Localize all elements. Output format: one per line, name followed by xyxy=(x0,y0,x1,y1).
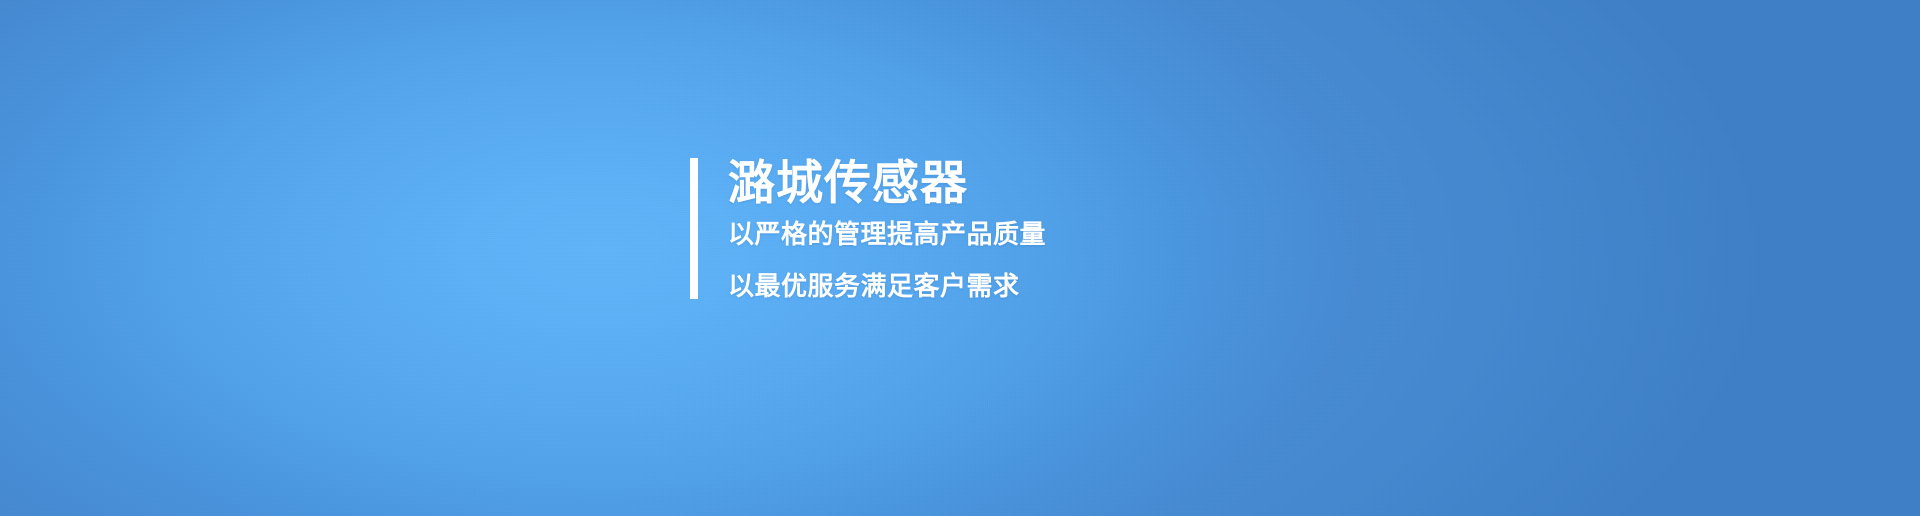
page-title: 潞城传感器 xyxy=(728,158,1046,207)
accent-bar xyxy=(690,158,698,299)
hero-text-block: 潞城传感器 以严格的管理提高产品质量 以最优服务满足客户需求 xyxy=(728,158,1046,299)
hero-content: 潞城传感器 以严格的管理提高产品质量 以最优服务满足客户需求 xyxy=(690,158,1046,299)
hero-subtitle-line-1: 以严格的管理提高产品质量 xyxy=(728,221,1046,247)
hero-banner: 潞城传感器 以严格的管理提高产品质量 以最优服务满足客户需求 xyxy=(0,0,1920,516)
hero-subtitle-line-2: 以最优服务满足客户需求 xyxy=(728,273,1046,299)
